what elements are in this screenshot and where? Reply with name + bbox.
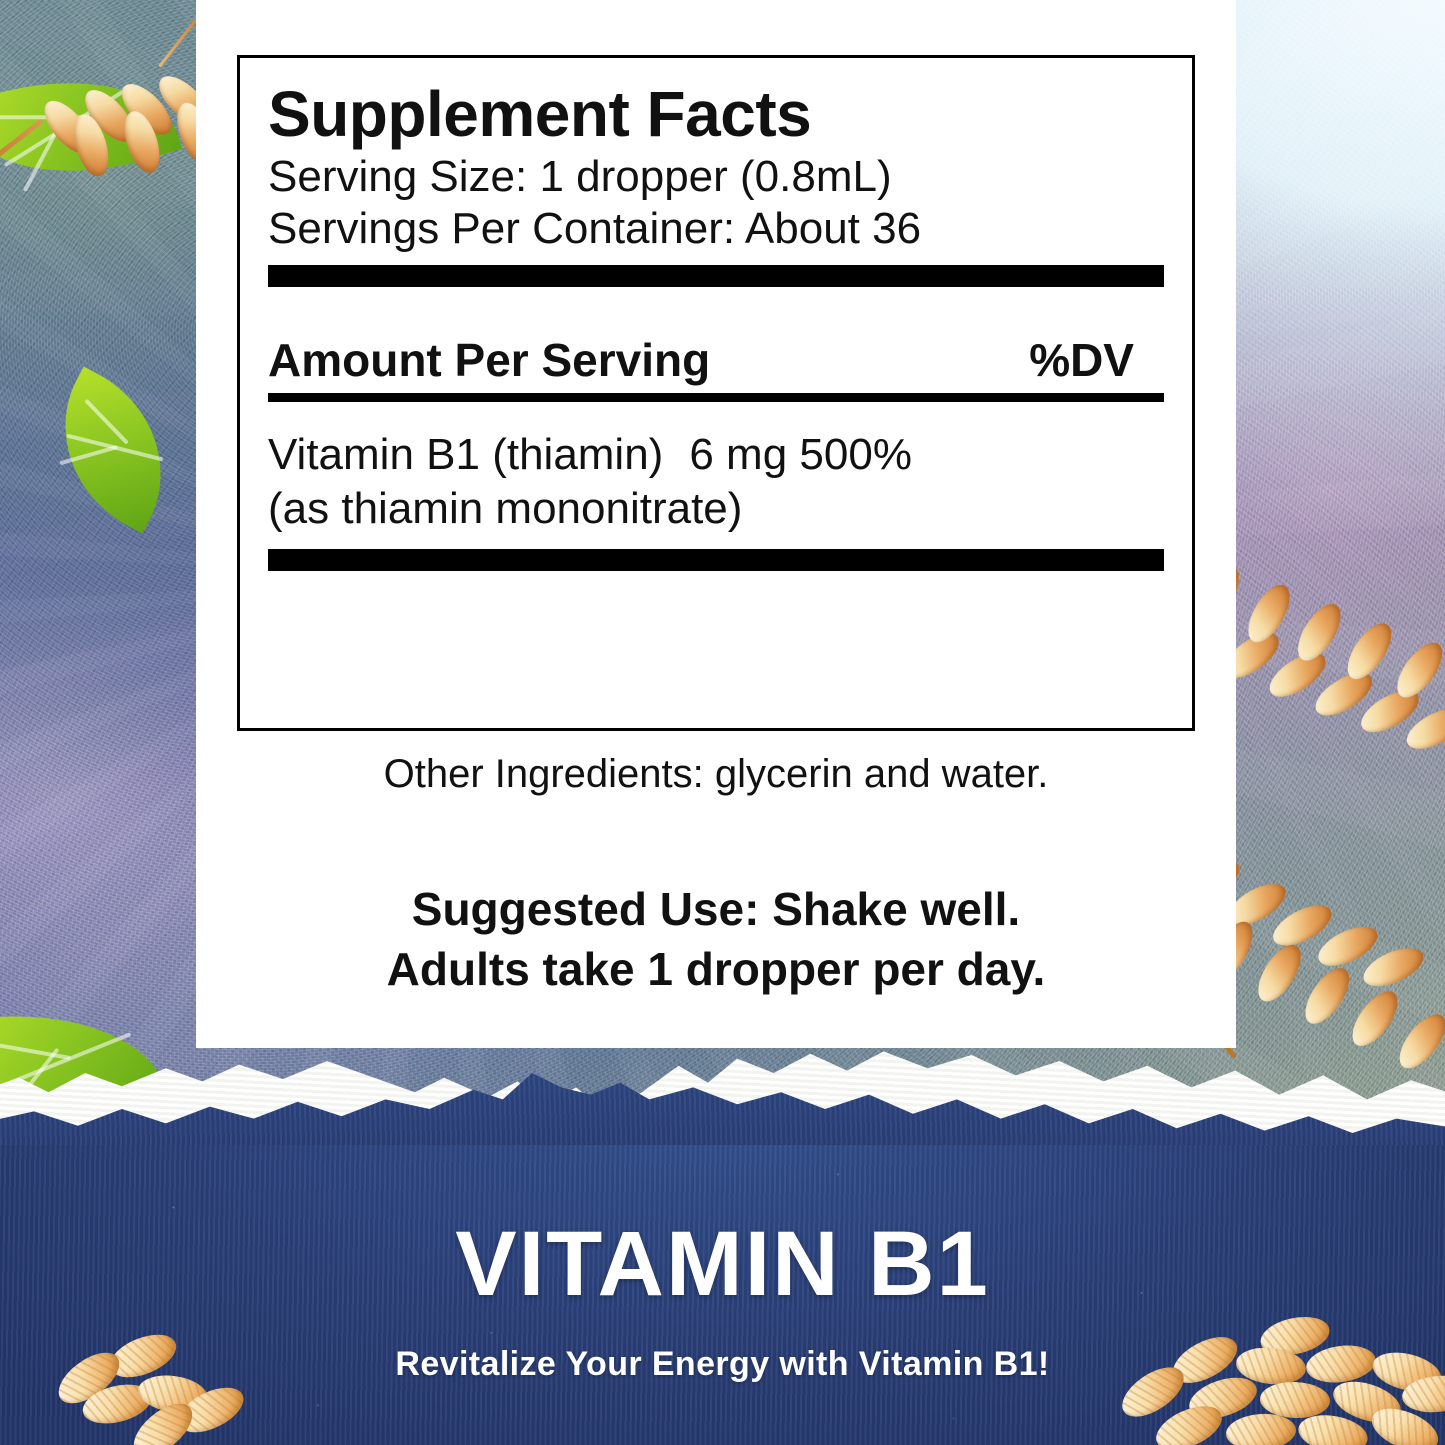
facts-divider-thick: [268, 265, 1164, 287]
suggested-use-line-1: Suggested Use: Shake well.: [196, 880, 1236, 940]
daily-value-label: %DV: [1029, 333, 1164, 387]
supplement-facts-title: Supplement Facts: [268, 82, 1164, 147]
nutrient-source: (as thiamin mononitrate): [268, 482, 1164, 536]
facts-divider-thin: [268, 393, 1164, 402]
amount-per-serving-row: Amount Per Serving %DV: [268, 333, 1164, 387]
nutrient-name: Vitamin B1 (thiamin): [268, 430, 663, 479]
facts-divider-bottom: [268, 549, 1164, 571]
supplement-facts-card: Supplement Facts Serving Size: 1 dropper…: [196, 0, 1236, 1048]
product-name: VITAMIN B1: [0, 1218, 1445, 1310]
suggested-use-text: Suggested Use: Shake well. Adults take 1…: [196, 880, 1236, 1000]
serving-size-line: Serving Size: 1 dropper (0.8mL): [268, 151, 1164, 203]
nutrient-amount: 6 mg: [689, 430, 787, 479]
supplement-label-image: Supplement Facts Serving Size: 1 dropper…: [0, 0, 1445, 1445]
product-tagline: Revitalize Your Energy with Vitamin B1!: [0, 1345, 1445, 1384]
amount-per-serving-label: Amount Per Serving: [268, 333, 710, 387]
nutrient-daily-value: 500%: [799, 430, 912, 479]
nutrient-row: Vitamin B1 (thiamin)6 mg 500%: [268, 428, 1164, 482]
suggested-use-line-2: Adults take 1 dropper per day.: [196, 940, 1236, 1000]
supplement-facts-box: Supplement Facts Serving Size: 1 dropper…: [237, 55, 1195, 731]
other-ingredients-text: Other Ingredients: glycerin and water.: [196, 752, 1236, 797]
servings-per-container-line: Servings Per Container: About 36: [268, 203, 1164, 255]
